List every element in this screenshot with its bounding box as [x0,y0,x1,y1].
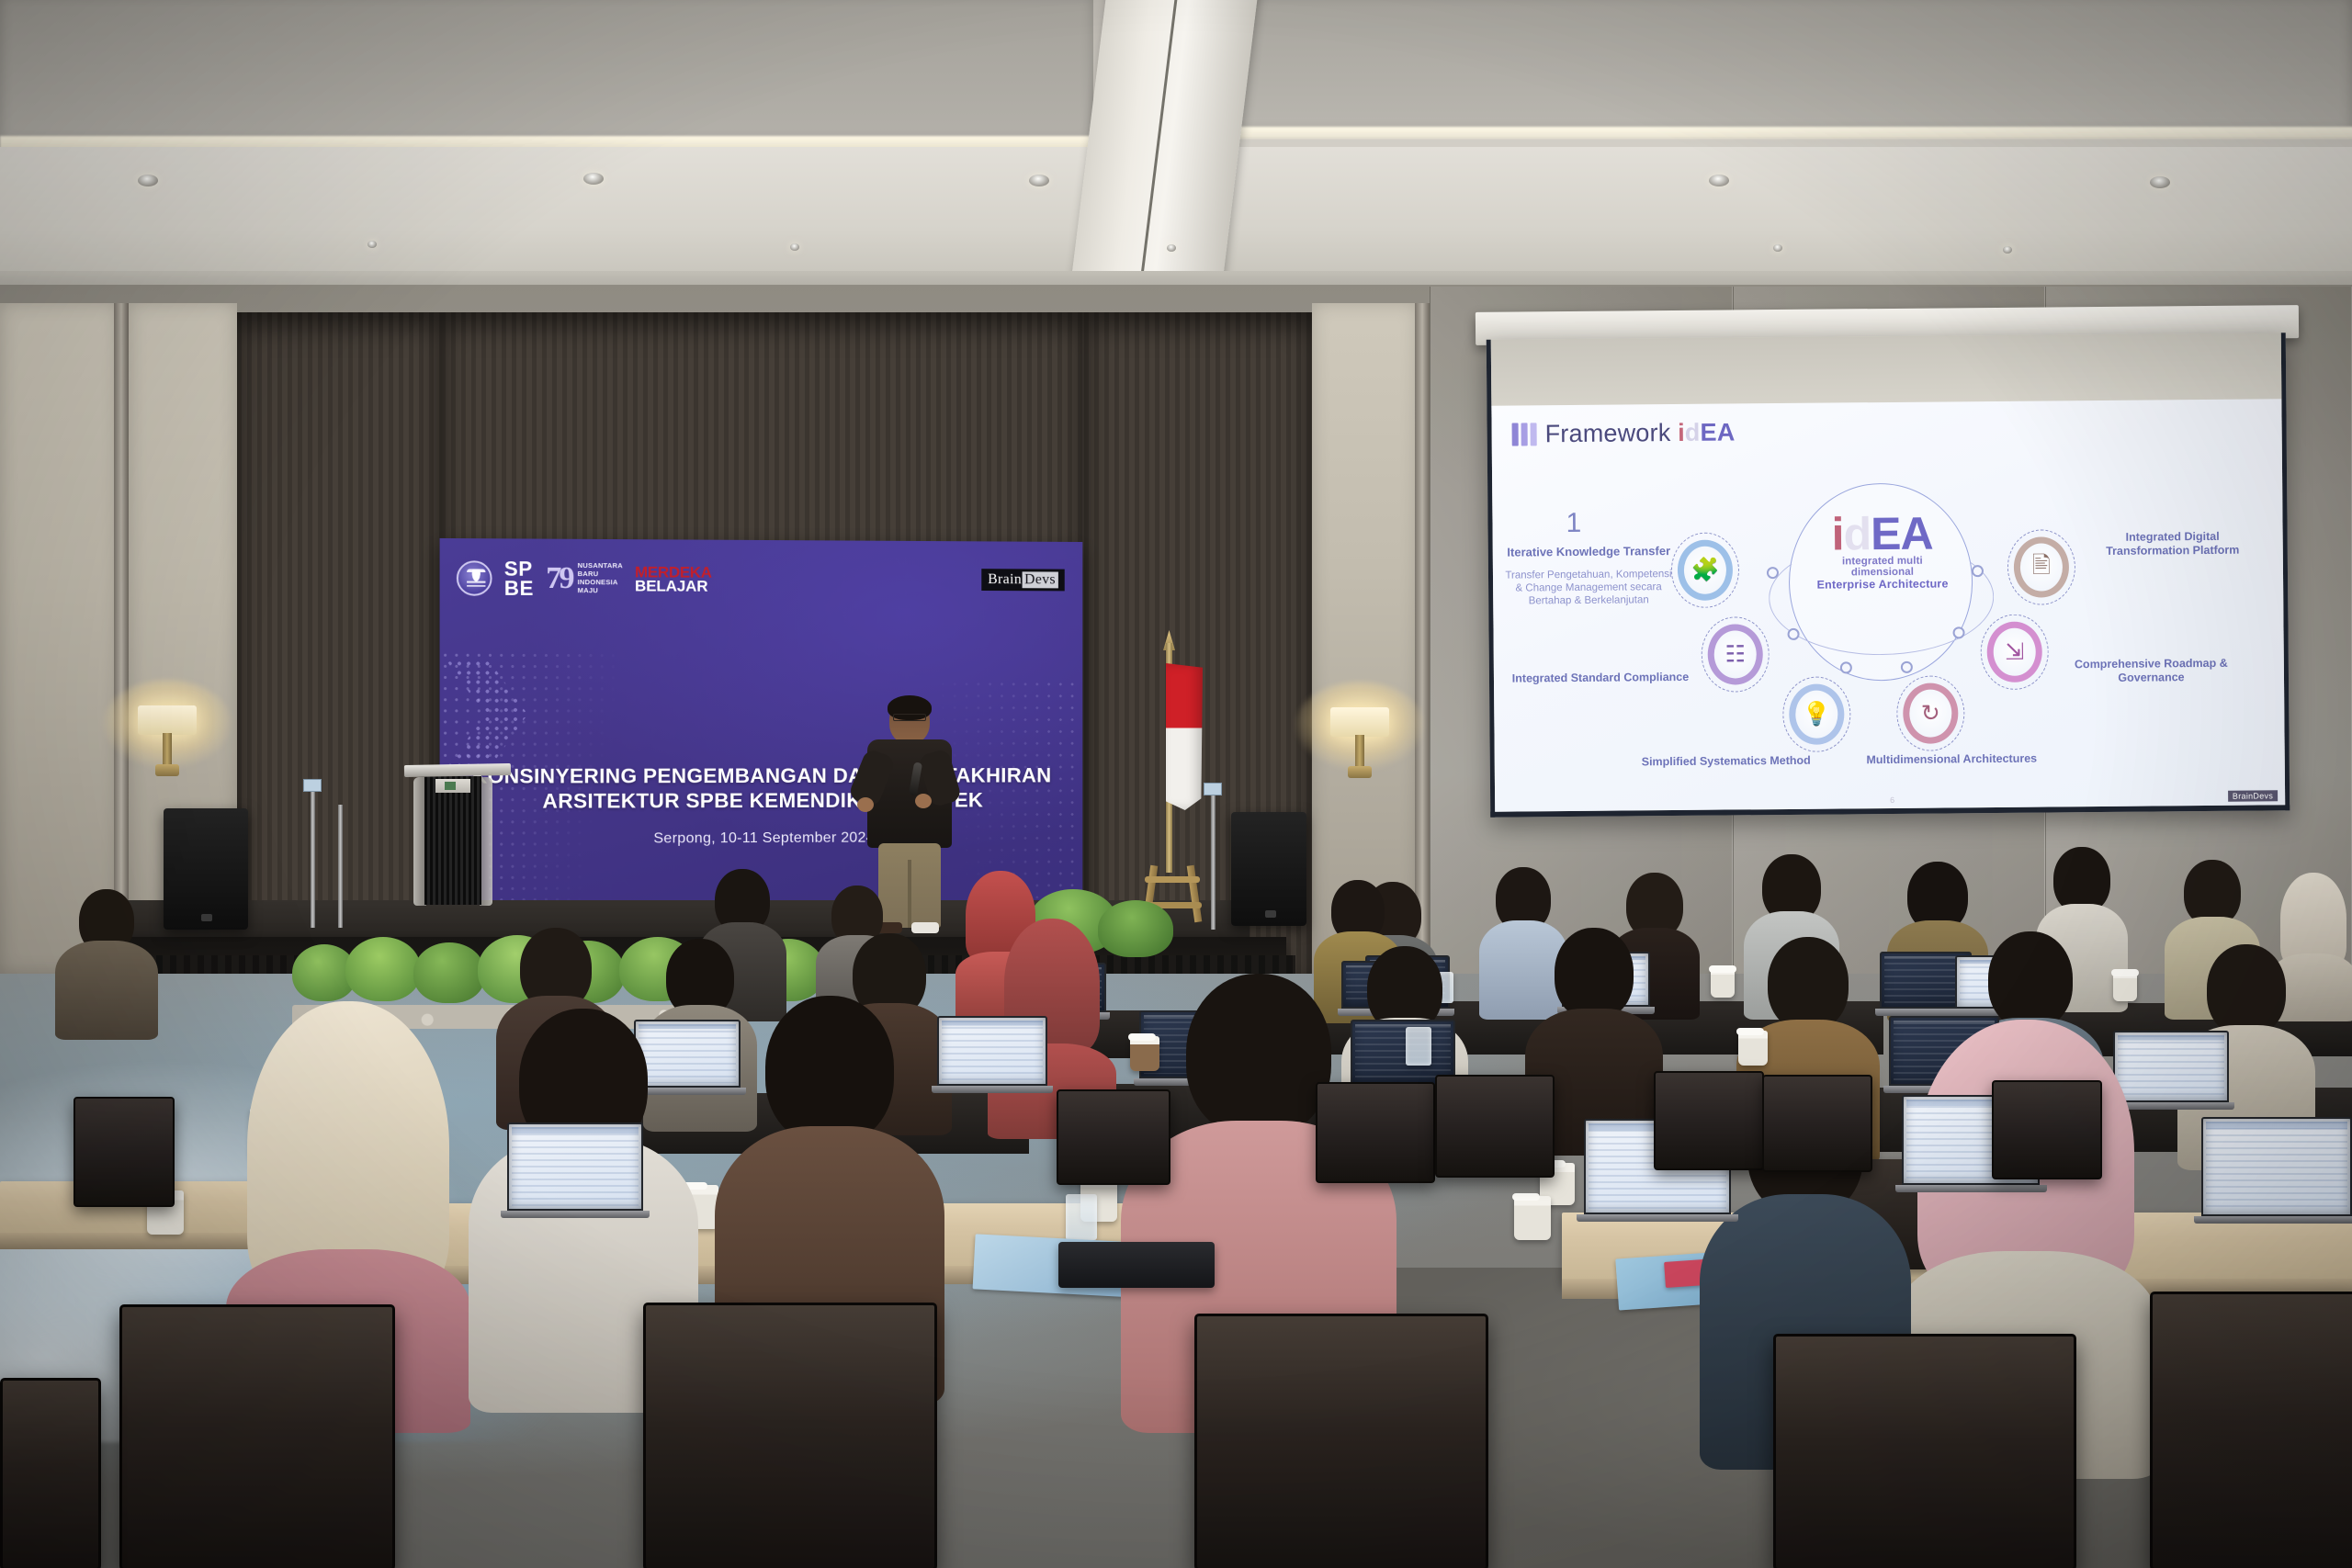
wall-sconce-base [155,764,179,776]
callout-heading-simplified-systematics-method: Simplified Systematics Method [1634,754,1818,770]
anniversary-logo: 79 NUSANTARA BARU INDONESIA MAJU [546,562,623,595]
lightbulb-gear-icon: 💡 [1782,676,1851,752]
laptop-screen-content [2206,1122,2347,1212]
coffee-cup [1738,1031,1768,1066]
ministry-emblem-icon [457,560,492,596]
braindevs-logo: BrainDevs [981,569,1064,591]
slide-title: Framework idEA [1545,418,1736,448]
person-head [1988,931,2073,1029]
document-chart-icon: 🖹 [2007,529,2076,605]
slide-footer-brand: BrainDevs [2228,790,2278,801]
wall-sconce-arm [1355,735,1364,766]
wall-column-left [0,303,119,974]
chair[interactable] [1057,1089,1170,1185]
wall-sconce-icon [1330,707,1389,737]
mic-stand-card [1204,783,1222,795]
chair[interactable] [1435,1075,1555,1178]
connector-dot [1840,661,1852,673]
person-head [1768,937,1849,1031]
downlight-icon [1167,244,1176,252]
mic-stand [311,792,315,928]
downlight-icon [367,241,377,248]
plant [413,942,485,1003]
chair[interactable] [1762,1075,1872,1172]
connector-dot [1767,567,1779,579]
laptop-screen [937,1016,1047,1086]
callout-heading-integrated-standard-compliance: Integrated Standard Compliance [1509,671,1692,686]
laptop-base [932,1086,1053,1093]
conference-photo-scene: Framework idEA idEA integrated multi dim… [0,0,2352,1568]
presenter-hand-left [857,797,874,812]
cycle-arrows-icon: ↻ [1896,675,1965,751]
chair-foreground[interactable] [2150,1292,2352,1568]
laptop-screen [2201,1117,2352,1216]
slide-title-row: Framework idEA [1512,418,1736,448]
anniversary-number: 79 [546,565,571,592]
laptop-screen-content [512,1127,639,1206]
easel-brace [1145,876,1200,883]
downlight-icon [2150,176,2170,188]
callout-heading-comprehensive-roadmap-governance: Comprehensive Roadmap & Governance [2071,657,2232,686]
chair-foreground[interactable] [1194,1314,1488,1568]
presenter-leg-split [908,860,911,928]
wall-sconce-arm [163,733,172,764]
laptop-base [2194,1216,2352,1224]
pa-speaker [164,808,248,930]
easel-leg [1187,865,1203,923]
podium-plate [435,779,470,793]
flag-stand [1139,643,1205,919]
indonesia-flag-icon [1166,663,1203,810]
podium-top [404,763,511,777]
downlight-icon [138,175,158,186]
slide-node-integrated-standard-compliance: ☷ [1701,616,1770,693]
projection-screen: Framework idEA idEA integrated multi dim… [1487,333,2290,818]
podium-body [424,776,481,905]
person-head [1555,928,1634,1020]
callout-number: 1 [1566,508,1581,539]
slide-node-multidimensional-architectures: ↻ [1896,675,1965,751]
person-head [765,996,894,1145]
downlight-icon [1029,175,1049,186]
spbe-logo: SP BE [504,559,534,598]
glasses-icon [893,714,926,721]
podium [412,764,503,906]
audience-person [55,889,158,1040]
table-edge [0,1233,257,1249]
slide-node-comprehensive-roadmap-governance: ⇲ [1980,614,2049,690]
anniversary-tagline: NUSANTARA BARU INDONESIA MAJU [578,562,623,595]
wall-sconce-icon [138,705,197,735]
bars-icon [1512,423,1537,446]
downlight-icon [583,173,604,185]
laptop [2201,1117,2352,1216]
slide-node-simplified-systematics-method: 💡 [1782,676,1851,752]
slide-node-iterative-knowledge-transfer: 🧩 [1671,532,1740,608]
chair-foreground[interactable] [0,1378,101,1568]
merdeka-belajar-logo: MERDEKA BELAJAR [635,565,712,592]
pa-speaker [1231,812,1306,926]
plant [345,937,421,1001]
callout-heading-iterative-knowledge-transfer: Iterative Knowledge Transfer [1504,544,1674,559]
callout-heading-multidimensional-architectures: Multidimensional Architectures [1853,751,2051,767]
laptop-base [1577,1214,1738,1222]
coffee-cup [1711,968,1735,998]
downlight-icon [1773,244,1782,252]
laptop-base [1895,1185,2047,1192]
presenter-hand-right [915,794,932,808]
wall-column-sconce-right [1312,303,1419,974]
downlight-icon [2003,246,2012,254]
podium-side [480,777,492,906]
coffee-cup [2113,972,2137,1001]
laptop-base [501,1211,650,1218]
ceiling-coffer-right [1222,0,2352,138]
presentation-slide: Framework idEA idEA integrated multi dim… [1491,399,2285,811]
mic-stand-card [303,779,322,792]
downlight-icon [1709,175,1729,186]
connector-dot [1972,565,1984,577]
laptop-screen-content [942,1021,1043,1081]
mic-stand [338,805,343,928]
drinking-glass [1066,1194,1097,1240]
drinking-glass [1406,1027,1431,1066]
banner-headline: KONSINYERING PENGEMBANGAN DAN PEMUTAKHIR… [440,763,1083,814]
wall-pillar-trim [1415,303,1430,974]
hierarchy-icon: ☷ [1701,616,1770,693]
laptop [937,1016,1047,1086]
wall-pillar-trim [114,303,129,974]
chair-foreground[interactable] [119,1304,395,1568]
callout-heading-integrated-digital-transformation-platform: Integrated Digital Transformation Platfo… [2086,529,2260,558]
person-head [2207,944,2286,1036]
chair[interactable] [73,1097,175,1207]
chair-foreground[interactable] [643,1303,937,1568]
callout-body-line3: Bertahap & Berkelanjutan [1498,593,1679,608]
connector-dot [1788,628,1800,640]
presenter-shoe [911,922,939,933]
laptop [507,1122,643,1211]
chair[interactable] [1654,1071,1764,1170]
ceiling [0,0,2352,331]
chair-foreground[interactable] [1773,1334,2076,1568]
coffee-cup [1514,1196,1551,1240]
screen-masking-band [1491,333,2282,406]
chair[interactable] [1992,1080,2102,1179]
downlight-icon [790,243,799,251]
connector-dot [1952,626,1964,638]
banner-logo-row: SP BE 79 NUSANTARA BARU INDONESIA MAJU M… [457,558,712,599]
connector-dot [1901,661,1913,673]
puzzle-icon: 🧩 [1671,532,1740,608]
banner-subtitle: Serpong, 10-11 September 2024 [440,829,1083,849]
ceiling-coffer-left [0,0,1093,147]
slide-node-integrated-digital-transformation-platform: 🖹 [2007,529,2076,605]
axis-arrow-icon: ⇲ [1980,614,2049,690]
mic-stand [1211,795,1216,930]
wall-sconce-base [1348,766,1372,778]
person-head [1186,974,1331,1137]
event-banner: SP BE 79 NUSANTARA BARU INDONESIA MAJU M… [440,538,1083,909]
laptop-screen [507,1122,643,1211]
person-body [55,941,158,1040]
chair[interactable] [1316,1082,1435,1183]
tablet-device [1058,1242,1215,1288]
slide-page-number: 6 [1890,795,1894,805]
cove-light-right [1231,127,2352,139]
